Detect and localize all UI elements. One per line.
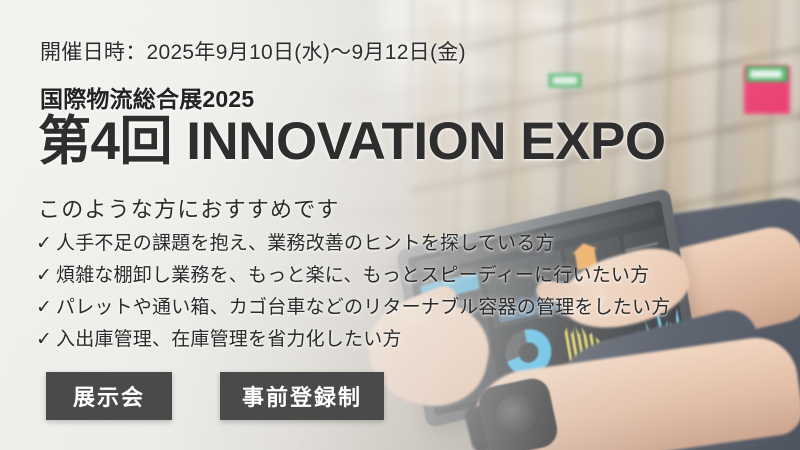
- check-icon: ✓: [36, 228, 56, 260]
- list-item-label: 煩雑な棚卸し業務を、もっと楽に、もっとスピーディーに行いたい方: [56, 265, 649, 286]
- event-date-line: 開催日時：2025年9月10日(水)～9月12日(金): [40, 36, 466, 66]
- list-item: ✓人手不足の課題を抱え、業務改善のヒントを探している方: [36, 228, 670, 260]
- event-subtitle: 国際物流総合展2025: [40, 80, 254, 114]
- recommendation-lead: このような方におすすめです: [38, 192, 340, 224]
- list-item: ✓パレットや通い箱、カゴ台車などのリターナブル容器の管理をしたい方: [36, 292, 670, 324]
- badge-group: 展示会 事前登録制: [46, 372, 384, 420]
- badge-preregistration: 事前登録制: [220, 372, 384, 420]
- list-item-label: 入出庫管理、在庫管理を省力化したい方: [56, 329, 402, 350]
- list-item-label: 人手不足の課題を抱え、業務改善のヒントを探している方: [56, 233, 555, 254]
- list-item: ✓煩雑な棚卸し業務を、もっと楽に、もっとスピーディーに行いたい方: [36, 260, 670, 292]
- event-banner: ▲25% ▲67% ✓Fine 開催日時：2025年9月10日(水)～9月12日…: [0, 0, 800, 450]
- recommendation-list: ✓人手不足の課題を抱え、業務改善のヒントを探している方 ✓煩雑な棚卸し業務を、も…: [36, 228, 670, 356]
- list-item-label: パレットや通い箱、カゴ台車などのリターナブル容器の管理をしたい方: [56, 297, 670, 318]
- list-item: ✓入出庫管理、在庫管理を省力化したい方: [36, 324, 670, 356]
- check-icon: ✓: [36, 292, 56, 324]
- check-icon: ✓: [36, 260, 56, 292]
- banner-content: 開催日時：2025年9月10日(水)～9月12日(金) 国際物流総合展2025 …: [0, 0, 800, 450]
- badge-exhibition: 展示会: [46, 372, 172, 420]
- check-icon: ✓: [36, 324, 56, 356]
- page-title: 第4回 INNOVATION EXPO: [38, 115, 666, 168]
